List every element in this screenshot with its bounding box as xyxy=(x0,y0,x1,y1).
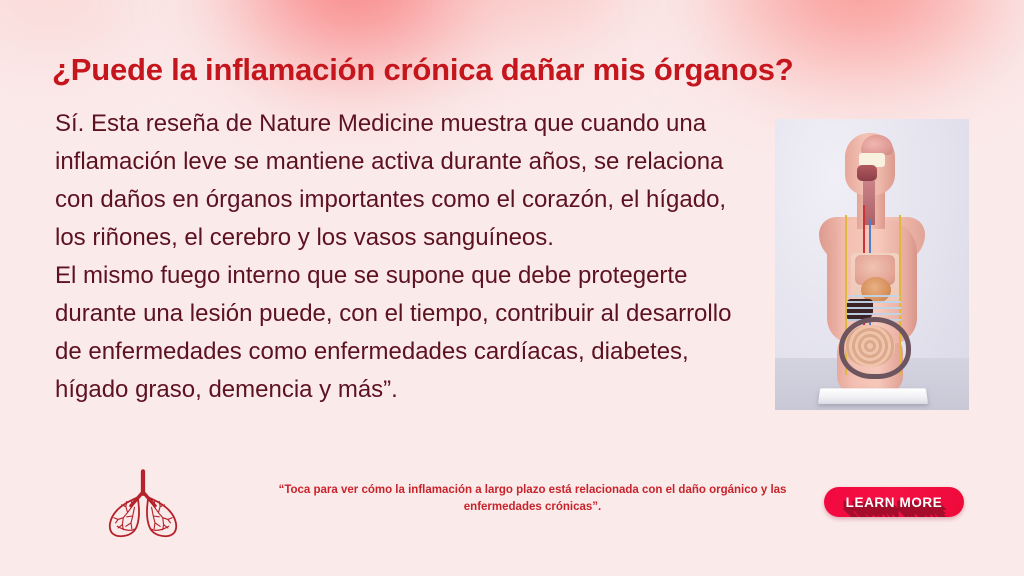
body-paragraph-1: Sí. Esta reseña de Nature Medicine muest… xyxy=(55,105,755,257)
learn-more-button-label: LEARN MORE xyxy=(824,487,964,517)
footer-caption: “Toca para ver cómo la inflamación a lar… xyxy=(275,482,790,516)
promo-slide: ¿Puede la inflamación crónica dañar mis … xyxy=(0,0,1024,576)
model-base-stand xyxy=(818,388,928,404)
lungs-icon xyxy=(100,468,186,540)
torso-model xyxy=(775,119,969,410)
model-brain xyxy=(861,135,893,155)
body-paragraph-2: El mismo fuego interno que se supone que… xyxy=(55,257,755,409)
page-title: ¿Puede la inflamación crónica dañar mis … xyxy=(52,52,982,88)
model-intestines xyxy=(845,325,895,367)
model-oral-cavity xyxy=(857,165,877,181)
learn-more-button[interactable]: LEARN MORE LEARN MORE xyxy=(824,487,964,517)
anatomy-torso-photo xyxy=(775,119,969,410)
body-text: Sí. Esta reseña de Nature Medicine muest… xyxy=(55,105,755,409)
